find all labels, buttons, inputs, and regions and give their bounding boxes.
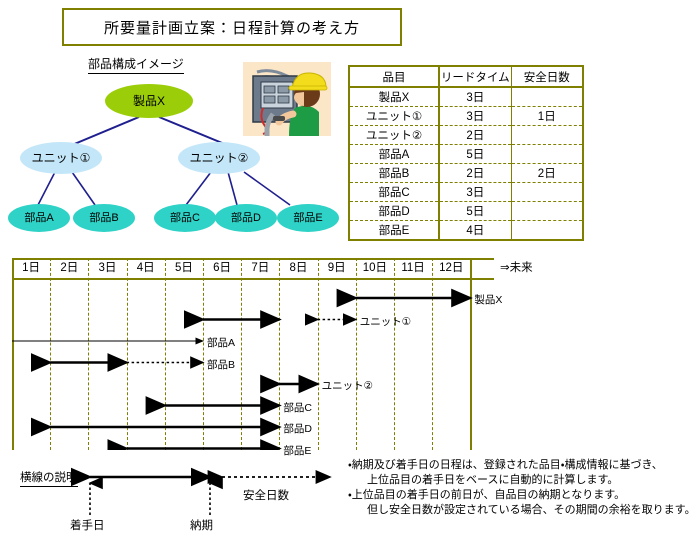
table-cell-safety-days	[511, 183, 583, 202]
legend-safety-label: 安全日数	[243, 487, 289, 503]
legend-diagram	[0, 455, 345, 550]
timeline-bar-label: 部品A	[207, 335, 235, 350]
table-cell-safety-days	[511, 87, 583, 107]
tree-node-part-c-label: 部品C	[170, 213, 200, 224]
note-line: ・上位品目の着手日の前日が、自品目の納期となります。	[348, 488, 692, 503]
timeline-bar-label: 部品D	[283, 421, 312, 436]
table-cell-lead-time: 2日	[439, 164, 511, 183]
legend-start-label: 着手日	[70, 517, 105, 533]
legend-due-label: 納期	[190, 517, 213, 533]
tree-node-part-d-label: 部品D	[231, 213, 261, 224]
table-cell-item: 製品X	[349, 87, 439, 107]
timeline-bar-label: 製品X	[474, 292, 502, 307]
table-row: ユニット①3日1日	[349, 107, 583, 126]
table-row: ユニット②2日	[349, 126, 583, 145]
table-cell-item: 部品B	[349, 164, 439, 183]
tree-node-part-b-label: 部品B	[89, 213, 118, 224]
schedule-timeline: 1日2日3日4日5日6日7日8日9日10日11日12日 製品Xユニット①部品A部…	[12, 258, 494, 450]
tree-node-part-e-label: 部品E	[293, 213, 322, 224]
table-cell-item: 部品D	[349, 202, 439, 221]
table-header-safety-days: 安全日数	[511, 66, 583, 87]
table-cell-safety-days: 1日	[511, 107, 583, 126]
tree-node-unit-2[interactable]: ユニット②	[178, 142, 260, 174]
note-line: 但し安全日数が設定されている場合、その期間の余裕を取ります。	[348, 503, 692, 518]
table-cell-item: ユニット②	[349, 126, 439, 145]
table-cell-lead-time: 2日	[439, 126, 511, 145]
table-header-row: 品目 リードタイム 安全日数	[349, 66, 583, 87]
table-cell-lead-time: 3日	[439, 87, 511, 107]
table-cell-safety-days: 2日	[511, 164, 583, 183]
table-header-item: 品目	[349, 66, 439, 87]
item-master-table: 品目 リードタイム 安全日数 製品X3日ユニット①3日1日ユニット②2日部品A5…	[348, 65, 584, 241]
tree-node-part-b[interactable]: 部品B	[73, 204, 135, 232]
table-cell-lead-time: 5日	[439, 202, 511, 221]
timeline-arrows	[12, 258, 494, 450]
page-title: 所要量計画立案：日程計算の考え方	[104, 17, 360, 38]
tree-node-part-a-label: 部品A	[24, 213, 53, 224]
tree-node-part-a[interactable]: 部品A	[8, 204, 70, 232]
table-cell-safety-days	[511, 221, 583, 241]
table-row: 部品C3日	[349, 183, 583, 202]
table-cell-safety-days	[511, 145, 583, 164]
table-row: 部品B2日2日	[349, 164, 583, 183]
tree-node-unit-1-label: ユニット①	[32, 152, 91, 164]
table-cell-lead-time: 4日	[439, 221, 511, 241]
table-row: 製品X3日	[349, 87, 583, 107]
table-cell-item: 部品A	[349, 145, 439, 164]
table-row: 部品D5日	[349, 202, 583, 221]
tree-node-root-label: 製品X	[133, 95, 165, 107]
timeline-bar-label: ユニット②	[322, 378, 373, 393]
tree-node-unit-1[interactable]: ユニット①	[20, 142, 102, 174]
timeline-future-label: ⇒未来	[500, 259, 533, 275]
timeline-bar-label: 部品B	[207, 357, 235, 372]
worker-electrical-panel-illustration	[243, 62, 331, 136]
timeline-bar-label: 部品C	[283, 400, 312, 415]
table-header-lead-time: リードタイム	[439, 66, 511, 87]
table-cell-item: 部品C	[349, 183, 439, 202]
note-line: 上位品目の着手日をベースに自動的に計算します。	[348, 473, 692, 488]
title-box: 所要量計画立案：日程計算の考え方	[62, 8, 402, 46]
table-cell-safety-days	[511, 202, 583, 221]
table-cell-item: ユニット①	[349, 107, 439, 126]
tree-node-unit-2-label: ユニット②	[190, 152, 249, 164]
table-cell-safety-days	[511, 126, 583, 145]
table-cell-lead-time: 3日	[439, 107, 511, 126]
table-cell-item: 部品E	[349, 221, 439, 241]
table-row: 部品A5日	[349, 145, 583, 164]
note-line: ・納期及び着手日の日程は、登録された品目・構成情報に基づき、	[348, 458, 692, 473]
table-row: 部品E4日	[349, 221, 583, 241]
timeline-bar-label: ユニット①	[360, 314, 411, 329]
table-cell-lead-time: 5日	[439, 145, 511, 164]
tree-node-part-e[interactable]: 部品E	[277, 204, 339, 232]
explanation-notes: ・納期及び着手日の日程は、登録された品目・構成情報に基づき、 上位品目の着手日を…	[348, 458, 692, 517]
tree-node-part-c[interactable]: 部品C	[154, 204, 216, 232]
tree-node-part-d[interactable]: 部品D	[215, 204, 277, 232]
tree-node-root[interactable]: 製品X	[105, 84, 193, 118]
table-cell-lead-time: 3日	[439, 183, 511, 202]
